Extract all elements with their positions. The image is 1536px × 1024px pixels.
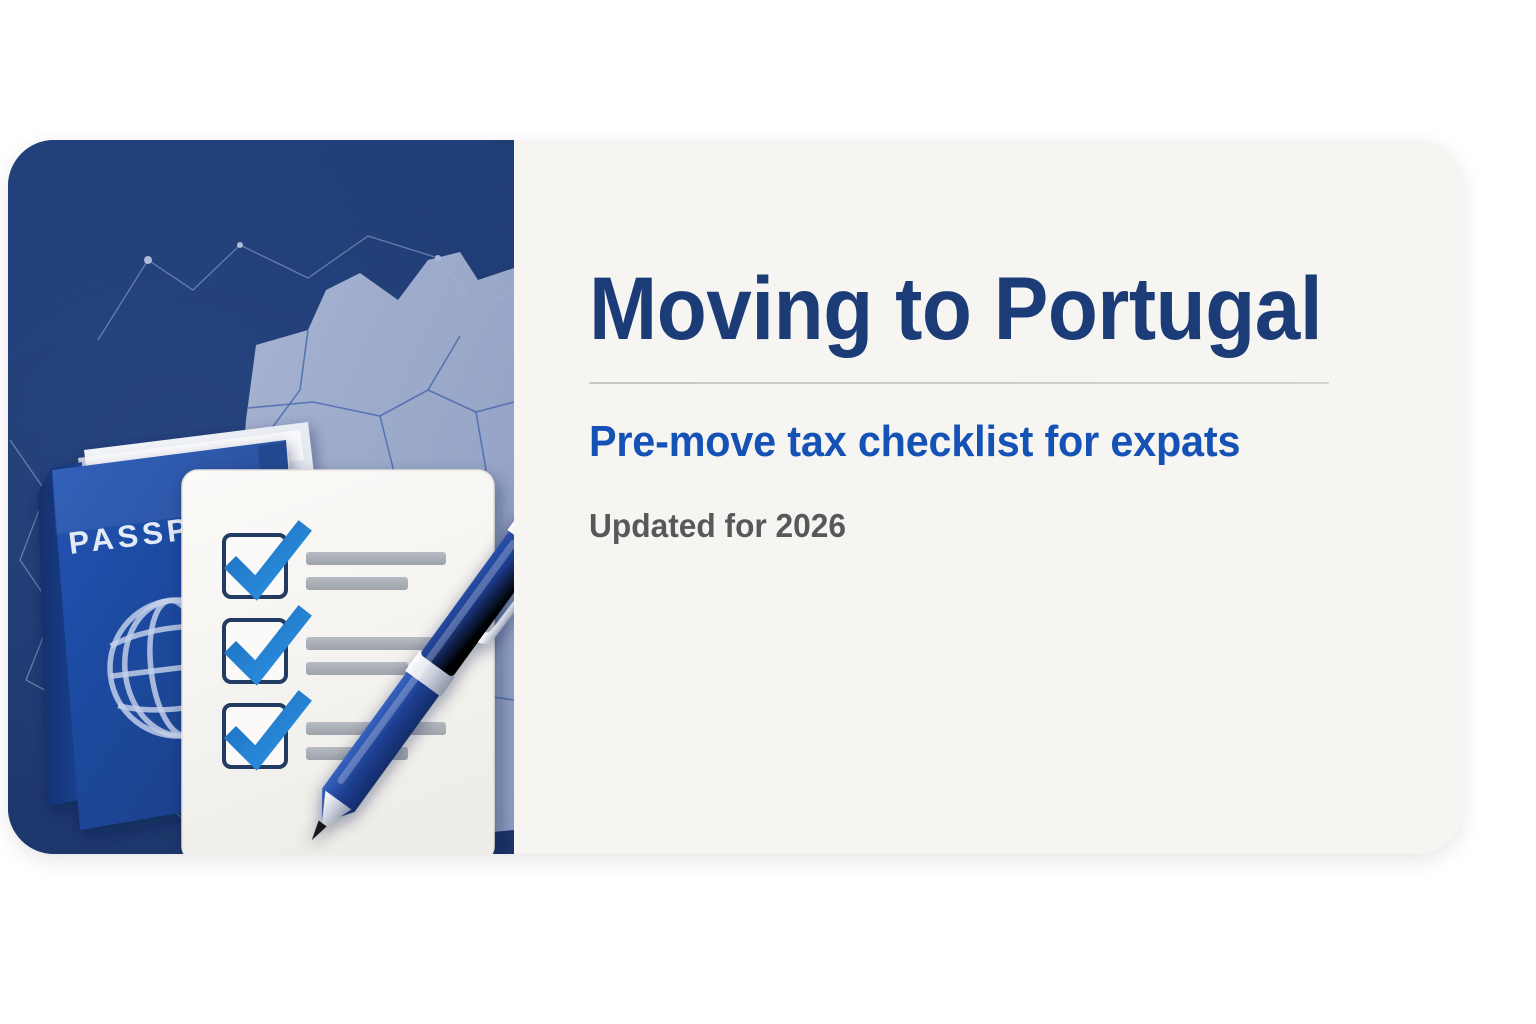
text-line-short-1 (306, 577, 408, 590)
page-canvas: PASSPORT (0, 0, 1536, 1024)
updated-label: Updated for 2026 (589, 506, 846, 546)
hero-card: PASSPORT (8, 140, 1463, 854)
passport-checklist-illustration: PASSPORT (8, 140, 514, 854)
page-subtitle: Pre-move tax checklist for expats (589, 417, 1240, 466)
title-divider (589, 382, 1329, 384)
page-title: Moving to Portugal (589, 264, 1322, 353)
hero-text-panel: Moving to Portugal Pre-move tax checklis… (514, 140, 1463, 854)
text-line-long-1 (306, 552, 446, 565)
text-line-short-2 (306, 662, 408, 675)
illustration-panel: PASSPORT (8, 140, 514, 854)
